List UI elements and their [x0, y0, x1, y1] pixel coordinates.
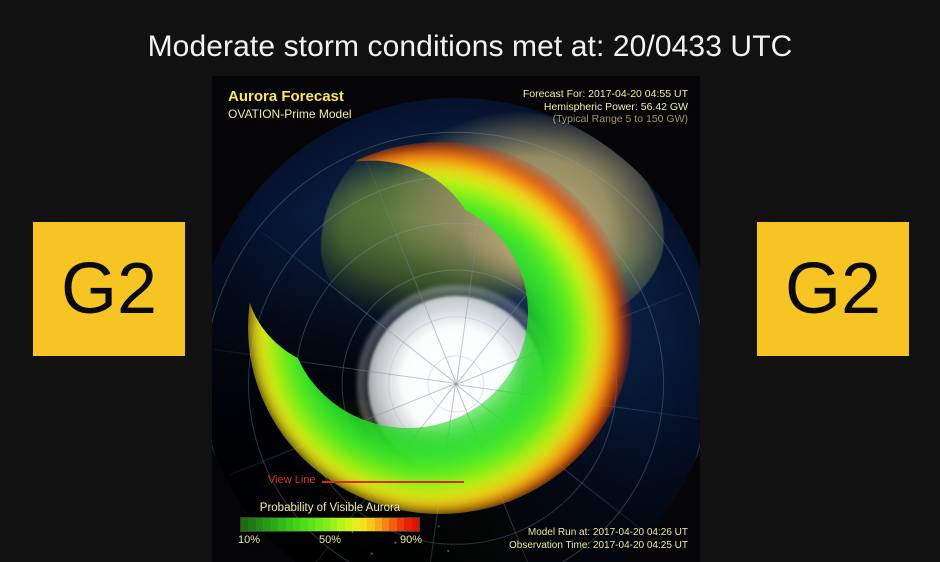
colorbar-segment-18: [375, 518, 382, 531]
colorbar-segment-20: [389, 518, 396, 531]
colorbar-tick-90: 90%: [400, 534, 422, 546]
colorbar-segment-22: [404, 518, 411, 531]
slide-root: Moderate storm conditions met at: 20/043…: [0, 0, 940, 562]
globe-visualization: [212, 76, 700, 562]
colorbar-segment-13: [337, 518, 344, 531]
colorbar-gradient: [240, 517, 420, 532]
forecast-metadata: Forecast For: 2017-04-20 04:55 UT Hemisp…: [523, 88, 688, 126]
probability-colorbar: Probability of Visible Aurora 10% 50% 90…: [230, 502, 430, 548]
observation-time-text: Observation Time: 2017-04-20 04:25 UT: [509, 540, 688, 553]
colorbar-segment-7: [293, 518, 300, 531]
colorbar-tick-50: 50%: [319, 534, 341, 546]
colorbar-segment-5: [278, 518, 285, 531]
badge-right-label: G2: [785, 253, 881, 325]
forecast-for-text: Forecast For: 2017-04-20 04:55 UT: [523, 88, 688, 101]
colorbar-segment-12: [330, 518, 337, 531]
storm-scale-badge-left: G2: [33, 222, 185, 356]
typical-range-text: (Typical Range 5 to 150 GW): [523, 113, 688, 126]
colorbar-segment-21: [397, 518, 404, 531]
model-run-info: Model Run at: 2017-04-20 04:26 UT Observ…: [509, 527, 688, 552]
colorbar-segment-16: [360, 518, 367, 531]
colorbar-segment-8: [300, 518, 307, 531]
colorbar-segment-10: [315, 518, 322, 531]
view-line-rule: [322, 481, 464, 483]
colorbar-title: Probability of Visible Aurora: [230, 502, 430, 514]
hemispheric-power-text: Hemispheric Power: 56.42 GW: [523, 101, 688, 114]
colorbar-segment-11: [323, 518, 330, 531]
colorbar-segment-1: [248, 518, 255, 531]
colorbar-segment-14: [345, 518, 352, 531]
colorbar-segment-17: [367, 518, 374, 531]
storm-scale-badge-right: G2: [757, 222, 909, 356]
colorbar-tick-10: 10%: [238, 534, 260, 546]
model-run-text: Model Run at: 2017-04-20 04:26 UT: [509, 527, 688, 540]
colorbar-segment-15: [352, 518, 359, 531]
colorbar-segment-3: [263, 518, 270, 531]
earth-globe: [212, 98, 700, 562]
panel-subtitle: OVATION-Prime Model: [228, 107, 352, 121]
colorbar-segment-4: [271, 518, 278, 531]
colorbar-segment-2: [256, 518, 263, 531]
view-line-label: View Line: [268, 474, 316, 486]
panel-title: Aurora Forecast: [228, 88, 344, 105]
colorbar-segment-23: [412, 518, 419, 531]
page-title: Moderate storm conditions met at: 20/043…: [0, 30, 940, 64]
colorbar-segment-6: [286, 518, 293, 531]
colorbar-segment-0: [241, 518, 248, 531]
aurora-forecast-panel: Aurora Forecast OVATION-Prime Model Fore…: [212, 76, 700, 562]
colorbar-segment-19: [382, 518, 389, 531]
badge-left-label: G2: [61, 253, 157, 325]
colorbar-segment-9: [308, 518, 315, 531]
colorbar-ticks: 10% 50% 90%: [236, 534, 424, 548]
